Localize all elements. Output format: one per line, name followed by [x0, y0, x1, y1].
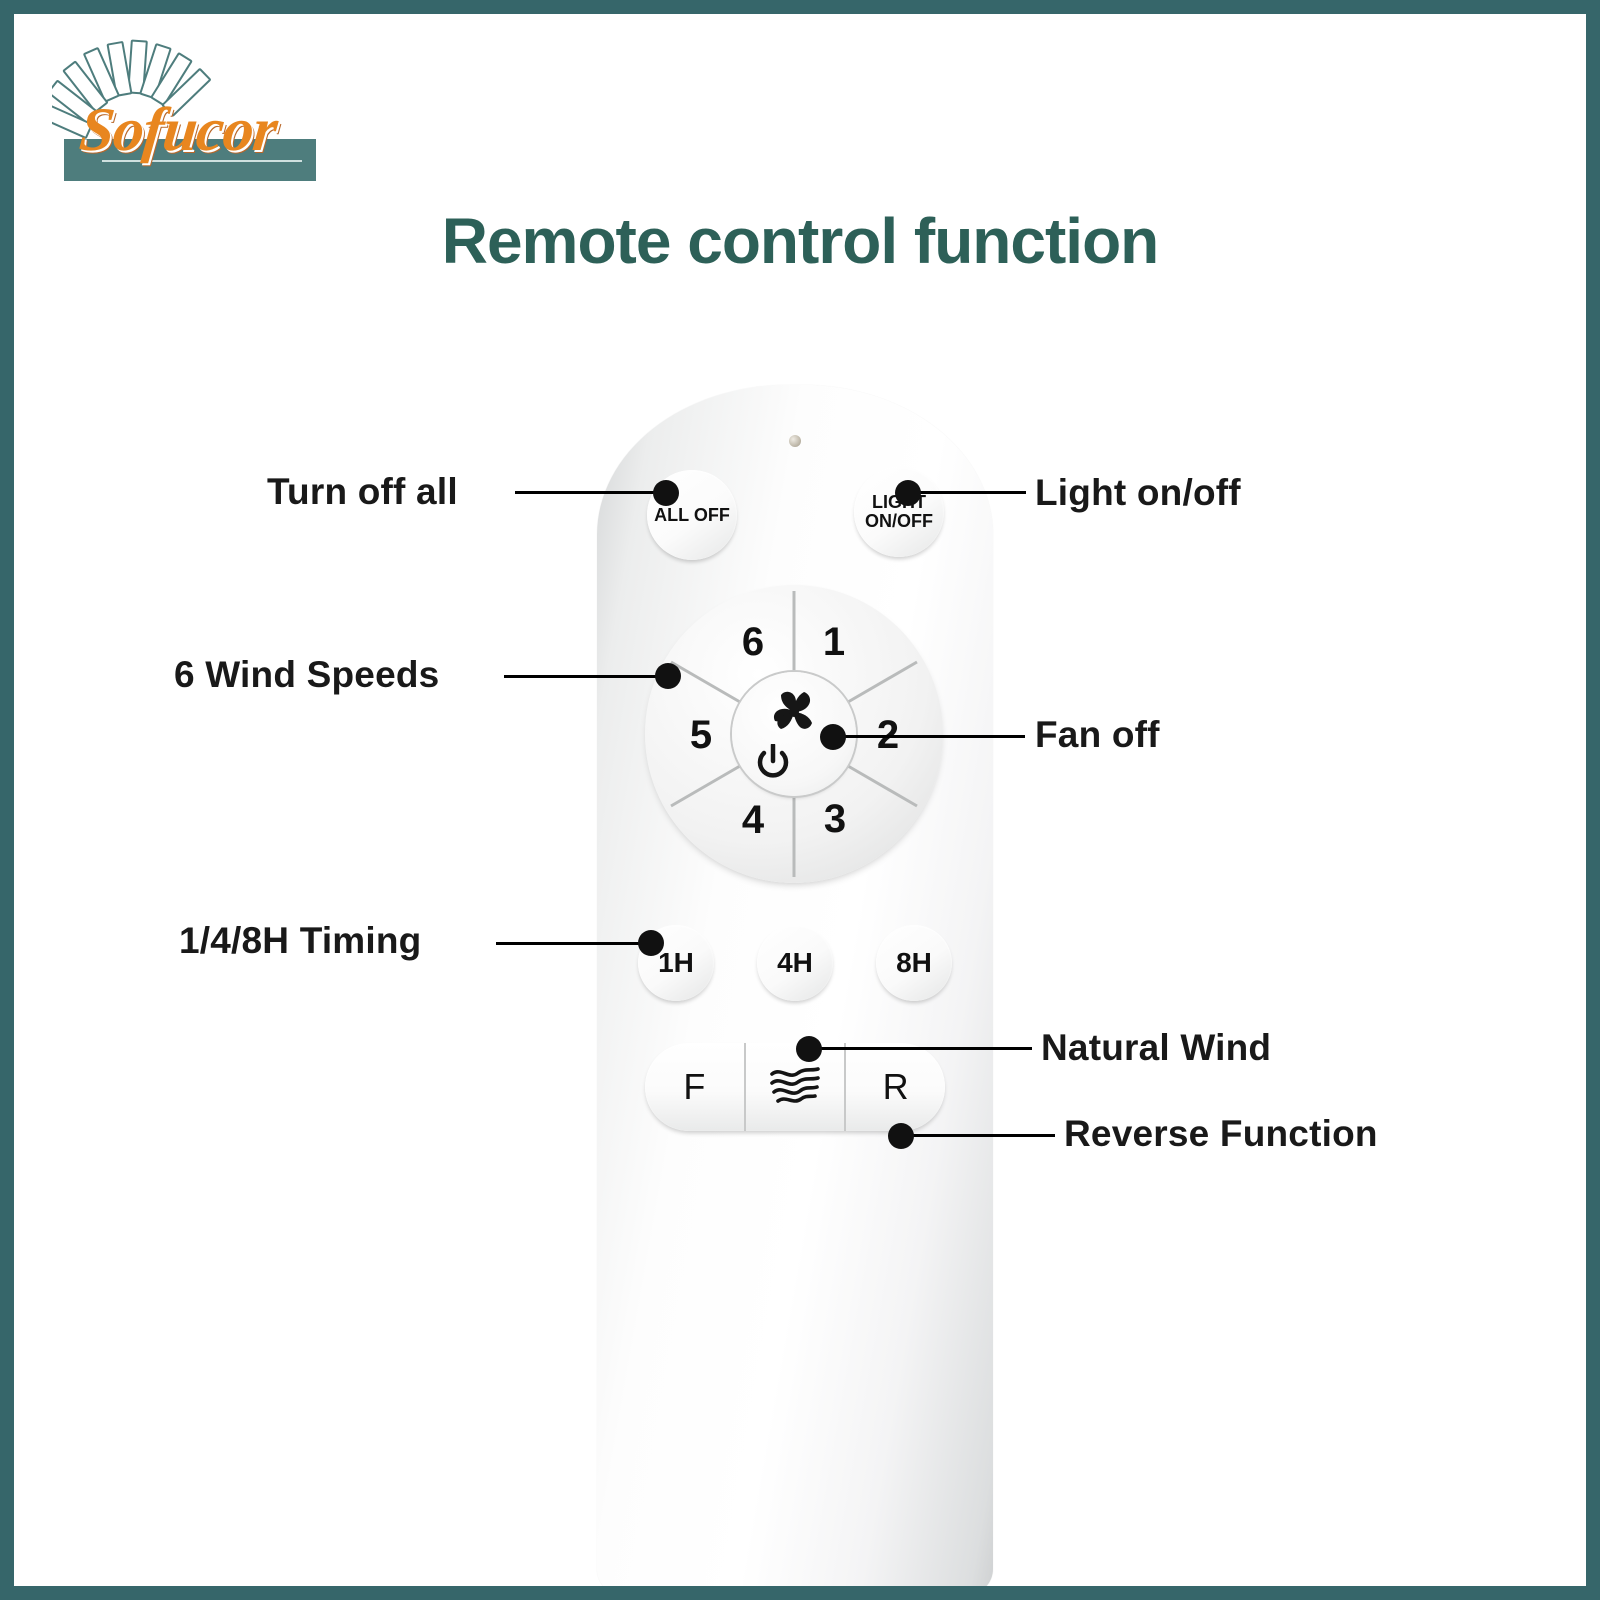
speed-3-label[interactable]: 3: [815, 797, 855, 842]
leader-dot-turn-off-all: [653, 480, 679, 506]
speed-6-label[interactable]: 6: [733, 620, 773, 665]
annotation-light-on-off: Light on/off: [1035, 472, 1241, 514]
timer-8h-button[interactable]: 8H: [876, 925, 952, 1001]
timer-8h-label: 8H: [896, 947, 932, 979]
forward-button[interactable]: F: [645, 1043, 744, 1131]
speed-1-label[interactable]: 1: [814, 620, 854, 665]
fan-blades-icon: [765, 688, 823, 738]
power-symbol-icon: [756, 744, 790, 782]
annotation-reverse-function: Reverse Function: [1064, 1113, 1378, 1155]
leader-dot-reverse-function: [888, 1123, 914, 1149]
timer-1h-label: 1H: [658, 947, 694, 979]
light-label-line-2: ON/OFF: [865, 511, 933, 531]
leader-line-timing: [496, 942, 652, 945]
leader-line-turn-off-all: [515, 491, 668, 494]
leader-line-six-wind-speeds: [504, 675, 669, 678]
remote-control-body: ALL OFF LIGHT ON/OFF 1 2 3: [597, 385, 993, 1586]
mode-button-strip: F R: [645, 1043, 945, 1131]
brand-name: Sofucor: [76, 95, 280, 166]
brand-logo: Sofucor: [42, 39, 312, 179]
speed-dial[interactable]: 1 2 3 4 5 6: [645, 585, 943, 883]
leader-dot-fan-off: [820, 724, 846, 750]
leader-line-fan-off: [839, 735, 1025, 738]
light-on-off-button[interactable]: LIGHT ON/OFF: [854, 467, 944, 557]
speed-4-label[interactable]: 4: [733, 798, 773, 843]
leader-dot-six-wind-speeds: [655, 663, 681, 689]
timer-4h-label: 4H: [777, 947, 813, 979]
leader-line-light-on-off: [916, 491, 1026, 494]
natural-wind-button[interactable]: [744, 1043, 845, 1131]
wind-waves-icon: [767, 1065, 823, 1109]
leader-line-reverse-function: [909, 1134, 1055, 1137]
page-title: Remote control function: [14, 204, 1586, 278]
speed-5-label[interactable]: 5: [681, 713, 721, 758]
annotation-turn-off-all: Turn off all: [267, 471, 458, 513]
leader-line-natural-wind: [820, 1047, 1032, 1050]
annotation-fan-off: Fan off: [1035, 714, 1160, 756]
annotation-six-wind-speeds: 6 Wind Speeds: [174, 654, 439, 696]
forward-label: F: [683, 1066, 705, 1108]
annotation-natural-wind: Natural Wind: [1041, 1027, 1271, 1069]
timer-4h-button[interactable]: 4H: [757, 925, 833, 1001]
annotation-timing: 1/4/8H Timing: [179, 920, 422, 962]
leader-dot-light-on-off: [895, 480, 921, 506]
reverse-label: R: [883, 1066, 909, 1108]
all-off-label: ALL OFF: [654, 506, 730, 525]
reverse-button[interactable]: R: [844, 1043, 945, 1131]
ir-led-icon: [789, 435, 801, 447]
leader-dot-timing: [638, 930, 664, 956]
poster-page: Sofucor Remote control function ALL OFF …: [14, 14, 1586, 1586]
leader-dot-natural-wind: [796, 1036, 822, 1062]
